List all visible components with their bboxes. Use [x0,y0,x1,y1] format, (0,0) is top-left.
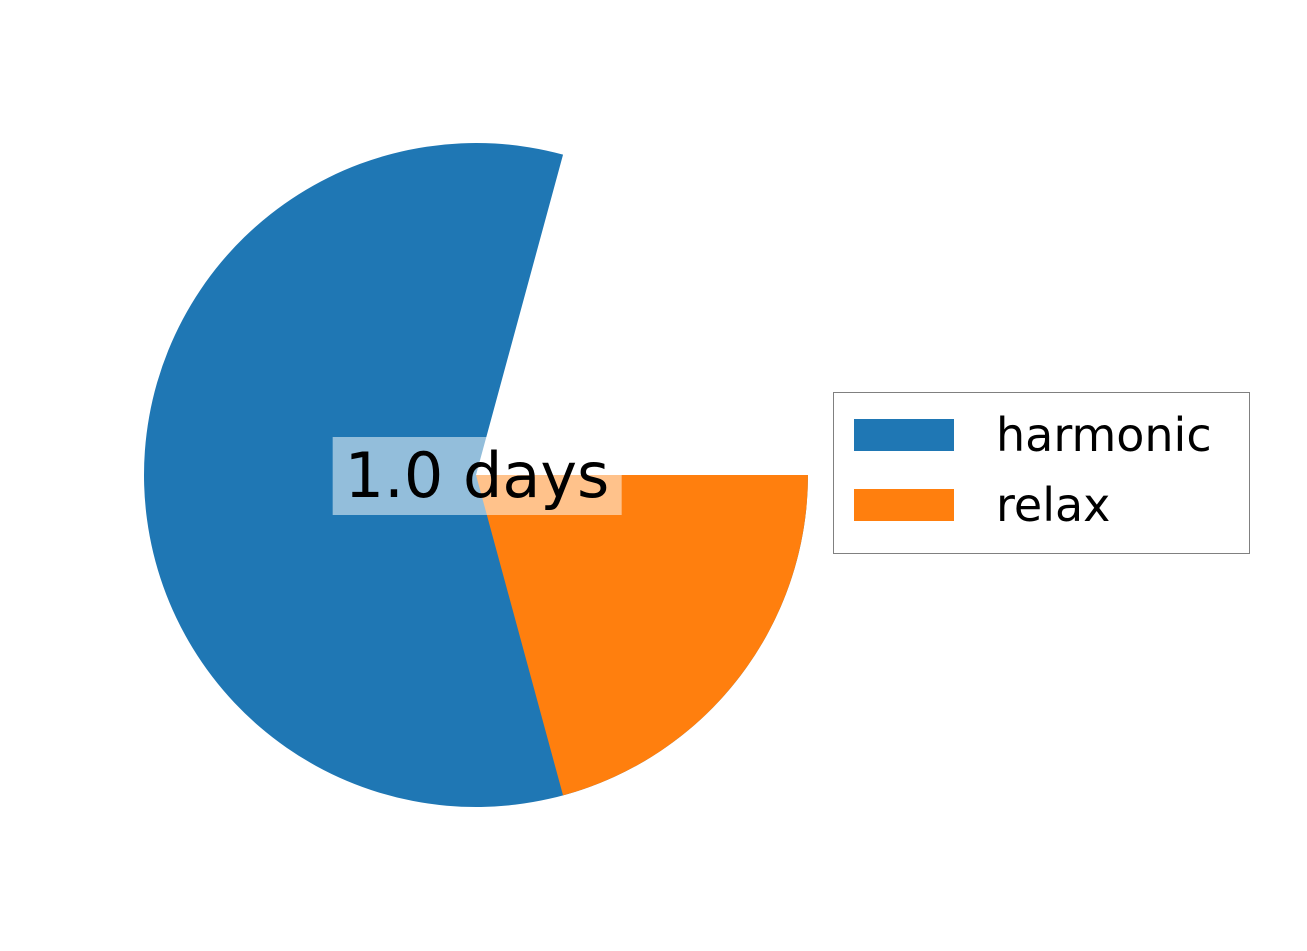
legend-swatch-relax [854,489,954,521]
figure-canvas: 1.0 days harmonic relax [0,0,1307,951]
legend-label-relax: relax [996,482,1110,528]
pie-center-label: 1.0 days [333,437,622,515]
legend-label-harmonic: harmonic [996,412,1212,458]
legend-item-harmonic[interactable]: harmonic [854,407,1212,463]
legend-swatch-harmonic [854,419,954,451]
legend-entries: harmonic relax [834,393,1249,553]
legend-box: harmonic relax [833,392,1250,554]
legend-item-relax[interactable]: relax [854,477,1110,533]
